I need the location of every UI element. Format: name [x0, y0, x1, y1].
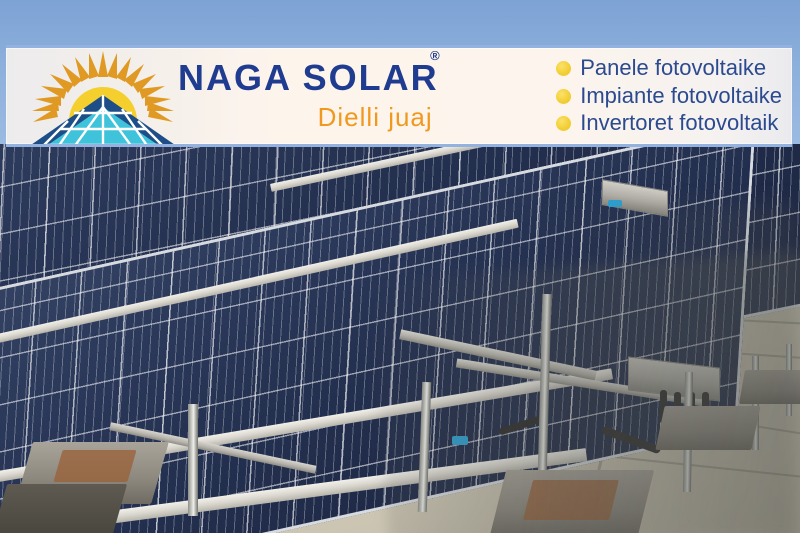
base-rust-stain	[53, 450, 136, 482]
brand-banner: NAGA SOLAR® Dielli juaj Panele fotovolta…	[6, 45, 792, 147]
concrete-base-block-shadowed	[0, 484, 127, 533]
bullet-dot-icon	[556, 89, 571, 104]
list-item-label: Panele fotovoltaike	[580, 56, 766, 81]
list-item[interactable]: Invertoret fotovoltaik	[556, 111, 782, 136]
screenshot-canvas: NAGA SOLAR® Dielli juaj Panele fotovolta…	[0, 0, 800, 533]
brand-name: NAGA SOLAR®	[178, 60, 439, 96]
registered-trademark-icon: ®	[430, 49, 442, 62]
hero-photo	[0, 144, 800, 533]
bullet-dot-icon	[556, 61, 571, 76]
list-item-label: Impiante fotovoltaike	[580, 84, 782, 109]
logo-container	[6, 45, 186, 147]
list-item[interactable]: Impiante fotovoltaike	[556, 84, 782, 109]
mount-post-front	[188, 404, 198, 516]
brand-name-text: NAGA SOLAR	[178, 57, 439, 98]
sun-over-solar-array-logo-icon	[28, 51, 178, 147]
list-item-label: Invertoret fotovoltaik	[580, 111, 778, 136]
bullet-dot-icon	[556, 116, 571, 131]
roof-shadow-band-secondary	[540, 204, 800, 533]
brand-tagline: Dielli juaj	[178, 102, 439, 133]
list-item[interactable]: Panele fotovoltaike	[556, 56, 782, 81]
brand-text-block: NAGA SOLAR® Dielli juaj	[178, 60, 439, 133]
service-list: Panele fotovoltaike Impiante fotovoltaik…	[556, 56, 792, 136]
